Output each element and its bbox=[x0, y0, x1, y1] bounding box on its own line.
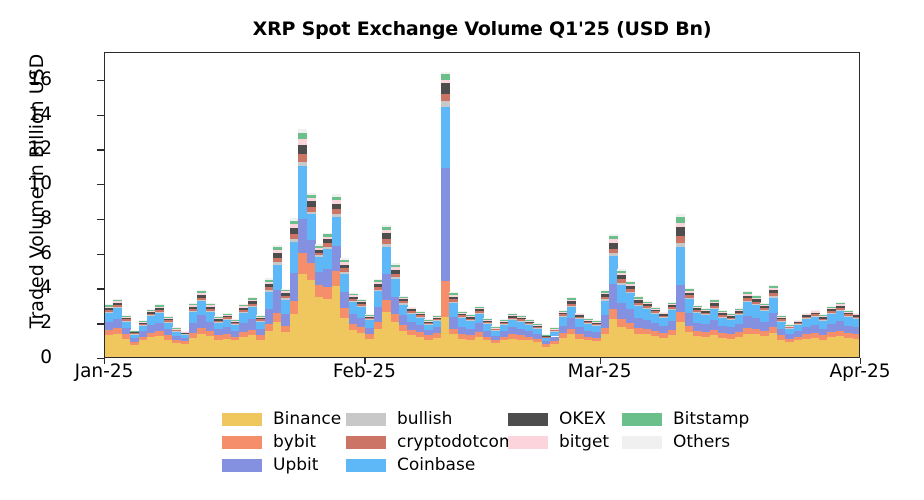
bar-segment-others bbox=[407, 307, 416, 308]
bar-segment-bitstamp bbox=[298, 133, 307, 139]
bar-segment-bybit bbox=[853, 334, 860, 338]
bar-segment-bitstamp bbox=[743, 292, 752, 294]
bar-segment-bitget bbox=[777, 317, 786, 318]
bar-segment-bullish bbox=[122, 321, 131, 322]
bar-segment-bitstamp bbox=[441, 74, 450, 79]
bar-segment-okex bbox=[617, 275, 626, 279]
bar-segment-okex bbox=[416, 314, 425, 316]
legend-label: Others bbox=[673, 434, 730, 451]
legend-swatch-icon bbox=[622, 436, 662, 449]
bar-segment-cryptodotcom bbox=[533, 327, 542, 328]
y-tick-label: 10 bbox=[12, 175, 52, 194]
bar-column bbox=[853, 313, 860, 357]
bar-segment-bitstamp bbox=[458, 312, 467, 313]
bar-segment-coinbase bbox=[441, 107, 450, 168]
legend-item-coinbase[interactable]: Coinbase bbox=[346, 454, 504, 477]
bar-segment-bitstamp bbox=[113, 300, 122, 302]
bar-segment-bitstamp bbox=[777, 316, 786, 317]
bar-segment-others bbox=[206, 303, 215, 304]
bar-segment-okex bbox=[533, 326, 542, 327]
bar-segment-bullish bbox=[710, 308, 719, 309]
bar-segment-okex bbox=[676, 227, 685, 235]
bar-segment-bitget bbox=[349, 295, 358, 296]
bar-segment-cryptodotcom bbox=[122, 319, 131, 320]
bar-segment-okex bbox=[609, 243, 618, 249]
bar-segment-others bbox=[533, 323, 542, 324]
bar-segment-cryptodotcom bbox=[777, 319, 786, 320]
bar-segment-others bbox=[223, 313, 232, 314]
bar-segment-coinbase bbox=[273, 265, 282, 290]
bar-segment-bullish bbox=[155, 312, 164, 313]
legend-item-upbit[interactable]: Upbit bbox=[222, 454, 342, 477]
bar-segment-bitget bbox=[197, 293, 206, 295]
bar-segment-okex bbox=[836, 306, 845, 308]
bar-segment-bitget bbox=[164, 318, 173, 319]
y-tick-mark bbox=[97, 115, 104, 116]
bar-segment-bitstamp bbox=[155, 305, 164, 306]
bar-segment-others bbox=[155, 304, 164, 305]
bar-segment-others bbox=[718, 310, 727, 311]
bar-segment-bitget bbox=[533, 325, 542, 326]
bar-segment-bitstamp bbox=[718, 311, 727, 312]
bar-segment-others bbox=[197, 290, 206, 291]
legend-swatch-icon bbox=[222, 436, 262, 449]
bar-segment-cryptodotcom bbox=[248, 304, 257, 306]
bar-segment-bitstamp bbox=[122, 316, 131, 317]
bar-segment-bitget bbox=[517, 317, 526, 318]
bar-segment-bullish bbox=[449, 302, 458, 303]
bar-segment-bitstamp bbox=[357, 299, 366, 300]
y-tick-label: 12 bbox=[12, 140, 52, 159]
bar-segment-okex bbox=[575, 315, 584, 317]
legend-swatch-icon bbox=[222, 459, 262, 472]
bar-segment-bitget bbox=[382, 230, 391, 233]
bar-segment-others bbox=[483, 318, 492, 319]
legend-row: bybitcryptodotcombitgetOthers bbox=[222, 431, 782, 454]
chart-title: XRP Spot Exchange Volume Q1'25 (USD Bn) bbox=[104, 18, 860, 40]
bar-segment-bitget bbox=[811, 311, 820, 312]
bar-segment-others bbox=[508, 313, 517, 314]
bar-segment-others bbox=[357, 299, 366, 300]
bar-segment-bitget bbox=[307, 198, 316, 201]
y-tick-mark bbox=[97, 184, 104, 185]
plot-area bbox=[104, 52, 860, 358]
bar-segment-bullish bbox=[307, 212, 316, 215]
bar-segment-okex bbox=[853, 315, 860, 317]
bar-segment-okex bbox=[206, 307, 215, 309]
bar-segment-bitstamp bbox=[617, 271, 626, 273]
legend-label: cryptodotcom bbox=[397, 434, 515, 451]
bar-segment-bitstamp bbox=[340, 260, 349, 262]
bar-segment-bitstamp bbox=[416, 312, 425, 313]
y-tick-mark bbox=[97, 219, 104, 220]
bar-segment-bitget bbox=[676, 223, 685, 228]
bar-segment-bitget bbox=[651, 309, 660, 310]
bar-segment-okex bbox=[164, 319, 173, 321]
bar-segment-bitstamp bbox=[651, 307, 660, 308]
chart-figure: XRP Spot Exchange Volume Q1'25 (USD Bn) … bbox=[0, 0, 924, 500]
bar-segment-others bbox=[391, 263, 400, 265]
bar-segment-bitget bbox=[223, 315, 232, 316]
legend-label: bullish bbox=[397, 411, 452, 428]
bar-segment-bullish bbox=[626, 292, 635, 294]
bar-segment-bitstamp bbox=[248, 298, 257, 300]
legend-label: Upbit bbox=[273, 457, 318, 474]
bar-segment-bitget bbox=[298, 139, 307, 145]
bar-segment-others bbox=[307, 193, 316, 195]
bar-segment-bitstamp bbox=[609, 236, 618, 240]
bar-segment-bitget bbox=[122, 317, 131, 318]
bar-segment-bullish bbox=[609, 253, 618, 256]
bar-segment-okex bbox=[475, 309, 484, 311]
bar-segment-bitget bbox=[769, 288, 778, 290]
bar-segment-cryptodotcom bbox=[609, 249, 618, 254]
bar-segment-okex bbox=[567, 301, 576, 303]
bar-segment-bitstamp bbox=[853, 313, 860, 314]
bar-segment-bitget bbox=[449, 295, 458, 297]
bar-segment-bitstamp bbox=[575, 313, 584, 314]
bar-segment-bullish bbox=[197, 300, 206, 301]
bar-segment-others bbox=[122, 315, 131, 316]
bar-segment-others bbox=[685, 288, 694, 289]
bar-segment-bitstamp bbox=[391, 265, 400, 267]
bar-segment-okex bbox=[273, 253, 282, 258]
bar-segment-bullish bbox=[113, 307, 122, 308]
bar-segment-bullish bbox=[853, 318, 860, 319]
legend-item-bybit[interactable]: bybit bbox=[222, 431, 342, 454]
bar-segment-bitget bbox=[575, 314, 584, 315]
bar-segment-bullish bbox=[685, 298, 694, 299]
bar-segment-cryptodotcom bbox=[710, 306, 719, 308]
bar-segment-cryptodotcom bbox=[449, 299, 458, 301]
bar-segment-bitget bbox=[626, 284, 635, 286]
bar-segment-okex bbox=[483, 321, 492, 322]
bar-segment-others bbox=[416, 311, 425, 312]
bar-segment-okex bbox=[340, 265, 349, 269]
bar-segment-bullish bbox=[777, 321, 786, 322]
bar-segment-bitstamp bbox=[517, 316, 526, 317]
x-tick-label: Feb-25 bbox=[328, 362, 400, 381]
bar-segment-bitstamp bbox=[332, 197, 341, 201]
bar-segment-others bbox=[752, 295, 761, 296]
bar-segment-coinbase bbox=[307, 214, 316, 239]
bar-segment-others bbox=[164, 316, 173, 317]
bar-segment-bullish bbox=[248, 306, 257, 307]
bar-segment-bitstamp bbox=[710, 300, 719, 302]
bar-segment-bitget bbox=[391, 267, 400, 269]
bar-segment-okex bbox=[155, 308, 164, 310]
bar-segment-bullish bbox=[769, 296, 778, 298]
bar-segment-bullish bbox=[567, 306, 576, 307]
bar-segment-bitstamp bbox=[475, 307, 484, 308]
bar-segment-coinbase bbox=[122, 321, 131, 328]
y-tick-mark bbox=[97, 254, 104, 255]
bar-segment-bitstamp bbox=[349, 294, 358, 296]
bar-segment-bullish bbox=[206, 311, 215, 312]
y-tick-mark bbox=[97, 323, 104, 324]
bar-segment-cryptodotcom bbox=[298, 154, 307, 162]
y-tick-label: 0 bbox=[12, 349, 52, 368]
bar-segment-cryptodotcom bbox=[567, 304, 576, 306]
bar-segment-upbit bbox=[441, 168, 450, 281]
bar-segment-bitstamp bbox=[533, 324, 542, 325]
bar-segment-cryptodotcom bbox=[475, 311, 484, 313]
legend-swatch-icon bbox=[508, 436, 548, 449]
bar-segment-others bbox=[584, 318, 593, 319]
bar-segment-bitstamp bbox=[382, 227, 391, 230]
legend-label: Bitstamp bbox=[673, 411, 749, 428]
bar-segment-bullish bbox=[273, 262, 282, 264]
bar-segment-coinbase bbox=[853, 319, 860, 327]
bar-segment-bitget bbox=[752, 298, 761, 299]
y-tick-label: 4 bbox=[12, 279, 52, 298]
legend-label: Coinbase bbox=[397, 457, 475, 474]
legend-swatch-icon bbox=[346, 436, 386, 449]
bar-segment-cryptodotcom bbox=[332, 209, 341, 214]
bar-segment-others bbox=[172, 327, 181, 328]
bar-segment-bitstamp bbox=[273, 247, 282, 250]
bar-segment-cryptodotcom bbox=[853, 317, 860, 318]
x-tick-label: Apr-25 bbox=[824, 362, 896, 381]
bar-segment-bullish bbox=[340, 272, 349, 274]
legend-item-bitget[interactable]: bitget bbox=[508, 431, 618, 454]
legend-swatch-icon bbox=[346, 459, 386, 472]
bar-segment-okex bbox=[391, 270, 400, 274]
bar-segment-bitget bbox=[685, 291, 694, 293]
legend-row: UpbitCoinbase bbox=[222, 454, 782, 477]
bar-segment-bitget bbox=[340, 262, 349, 264]
bar-segment-okex bbox=[769, 290, 778, 293]
bar-segment-cryptodotcom bbox=[382, 239, 391, 244]
bar-segment-bitstamp bbox=[449, 293, 458, 295]
bar-segment-okex bbox=[449, 297, 458, 300]
bar-segment-bitget bbox=[525, 321, 534, 322]
bar-segment-others bbox=[676, 214, 685, 217]
stacked-bars-layer bbox=[105, 53, 859, 357]
bar-segment-okex bbox=[752, 299, 761, 302]
bar-segment-cryptodotcom bbox=[197, 298, 206, 300]
bar-segment-okex bbox=[626, 286, 635, 289]
bar-segment-okex bbox=[357, 302, 366, 304]
bar-segment-others bbox=[248, 297, 257, 298]
bar-segment-bitget bbox=[113, 301, 122, 302]
bar-segment-bullish bbox=[441, 101, 450, 106]
bar-segment-others bbox=[382, 225, 391, 227]
legend-swatch-icon bbox=[222, 413, 262, 426]
bar-segment-bitstamp bbox=[752, 296, 761, 298]
bar-segment-cryptodotcom bbox=[626, 289, 635, 292]
bar-segment-bitget bbox=[853, 314, 860, 315]
legend-swatch-icon bbox=[622, 413, 662, 426]
bar-segment-bitstamp bbox=[307, 195, 316, 198]
chart-legend: BinancebullishOKEXBitstampbybitcryptodot… bbox=[222, 408, 782, 477]
bar-segment-bitstamp bbox=[626, 282, 635, 284]
bar-segment-bitstamp bbox=[172, 328, 181, 329]
bar-segment-binance bbox=[853, 339, 860, 357]
bar-segment-cryptodotcom bbox=[164, 320, 173, 321]
bar-segment-others bbox=[298, 129, 307, 133]
bar-segment-cryptodotcom bbox=[769, 293, 778, 296]
legend-label: OKEX bbox=[559, 411, 606, 428]
bar-segment-coinbase bbox=[533, 328, 542, 334]
legend-swatch-icon bbox=[508, 413, 548, 426]
bar-segment-okex bbox=[710, 303, 719, 305]
bar-segment-bitget bbox=[710, 302, 719, 303]
x-tick-label: Jan-25 bbox=[68, 362, 140, 381]
bar-segment-bullish bbox=[416, 317, 425, 318]
bar-segment-others bbox=[349, 293, 358, 294]
bar-segment-upbit bbox=[853, 327, 860, 334]
bar-segment-others bbox=[853, 313, 860, 314]
bar-segment-bitstamp bbox=[223, 314, 232, 315]
y-tick-label: 2 bbox=[12, 314, 52, 333]
bar-segment-bitstamp bbox=[811, 310, 820, 311]
bar-segment-bullish bbox=[298, 162, 307, 166]
bar-segment-okex bbox=[382, 233, 391, 239]
legend-row: BinancebullishOKEXBitstamp bbox=[222, 408, 782, 431]
bar-segment-bitget bbox=[643, 303, 652, 304]
bar-segment-bitget bbox=[617, 273, 626, 275]
bar-segment-bitstamp bbox=[483, 319, 492, 320]
bar-segment-bitget bbox=[248, 300, 257, 301]
bar-segment-bitget bbox=[155, 307, 164, 308]
bar-segment-coinbase bbox=[391, 279, 400, 297]
bar-segment-cryptodotcom bbox=[676, 236, 685, 243]
bar-segment-cryptodotcom bbox=[391, 274, 400, 277]
bar-segment-others bbox=[836, 302, 845, 303]
bar-segment-coinbase bbox=[769, 298, 778, 313]
legend-item-cryptodotcom[interactable]: cryptodotcom bbox=[346, 431, 504, 454]
bar-segment-others bbox=[458, 311, 467, 312]
bar-segment-others bbox=[525, 319, 534, 320]
y-tick-label: 8 bbox=[12, 210, 52, 229]
legend-label: bybit bbox=[273, 434, 316, 451]
bar-segment-bitget bbox=[475, 308, 484, 309]
bar-segment-okex bbox=[441, 83, 450, 94]
bar-segment-cryptodotcom bbox=[357, 304, 366, 306]
bar-segment-coinbase bbox=[340, 274, 349, 292]
bar-segment-bullish bbox=[391, 277, 400, 279]
legend-item-binance[interactable]: Binance bbox=[222, 408, 342, 431]
bar-segment-others bbox=[643, 301, 652, 302]
legend-item-okex[interactable]: OKEX bbox=[508, 408, 618, 431]
bar-segment-bitget bbox=[399, 298, 408, 299]
bar-segment-bullish bbox=[483, 323, 492, 324]
bar-segment-others bbox=[273, 245, 282, 247]
bar-segment-bullish bbox=[357, 306, 366, 307]
bar-segment-bitstamp bbox=[197, 291, 206, 293]
y-tick-label: 16 bbox=[12, 71, 52, 90]
bar-segment-bitstamp bbox=[525, 320, 534, 321]
bar-segment-others bbox=[693, 305, 702, 306]
bar-segment-bitget bbox=[357, 301, 366, 302]
bar-segment-bitget bbox=[416, 313, 425, 314]
bar-segment-bitget bbox=[273, 250, 282, 253]
legend-swatch-icon bbox=[346, 413, 386, 426]
bar-segment-bitstamp bbox=[567, 298, 576, 300]
bar-segment-coinbase bbox=[332, 217, 341, 246]
bar-segment-bullish bbox=[332, 214, 341, 217]
bar-segment-bitstamp bbox=[836, 303, 845, 304]
bar-segment-others bbox=[769, 285, 778, 286]
legend-label: Binance bbox=[273, 411, 341, 428]
bar-segment-others bbox=[517, 315, 526, 316]
bar-segment-others bbox=[475, 306, 484, 307]
bar-segment-bitstamp bbox=[206, 304, 215, 305]
bar-segment-bitstamp bbox=[399, 297, 408, 298]
bar-segment-others bbox=[332, 194, 341, 196]
bar-segment-others bbox=[617, 269, 626, 271]
bar-segment-cryptodotcom bbox=[206, 309, 215, 311]
bar-segment-bitget bbox=[407, 308, 416, 309]
bar-segment-others bbox=[575, 313, 584, 314]
bar-segment-okex bbox=[685, 293, 694, 296]
bar-segment-others bbox=[340, 258, 349, 260]
bar-segment-bullish bbox=[399, 303, 408, 304]
bar-segment-okex bbox=[248, 301, 257, 303]
bar-segment-cryptodotcom bbox=[399, 301, 408, 303]
bar-segment-bitget bbox=[609, 239, 618, 242]
legend-label: bitget bbox=[559, 434, 609, 451]
y-tick-label: 14 bbox=[12, 106, 52, 125]
bar-segment-okex bbox=[298, 145, 307, 155]
bar-segment-bitget bbox=[206, 305, 215, 306]
bar-segment-okex bbox=[223, 316, 232, 318]
bar-segment-cryptodotcom bbox=[113, 305, 122, 307]
y-tick-mark bbox=[97, 149, 104, 150]
bar-segment-bitget bbox=[483, 320, 492, 321]
bar-segment-cryptodotcom bbox=[685, 295, 694, 297]
bar-segment-bullish bbox=[382, 244, 391, 247]
bar-segment-bitget bbox=[441, 80, 450, 83]
bar-segment-others bbox=[567, 297, 576, 298]
bar-segment-okex bbox=[332, 204, 341, 210]
y-tick-mark bbox=[97, 80, 104, 81]
bar-segment-cryptodotcom bbox=[273, 258, 282, 262]
bar-segment-others bbox=[399, 296, 408, 297]
bar-segment-cryptodotcom bbox=[340, 268, 349, 271]
bar-segment-bitstamp bbox=[634, 297, 643, 299]
bar-segment-others bbox=[441, 72, 450, 75]
bar-segment-cryptodotcom bbox=[155, 310, 164, 312]
bar-segment-others bbox=[811, 310, 820, 311]
bar-segment-bullish bbox=[676, 243, 685, 247]
bar-segment-cryptodotcom bbox=[416, 315, 425, 316]
legend-item-bullish[interactable]: bullish bbox=[346, 408, 504, 431]
bar-segment-others bbox=[113, 299, 122, 300]
bar-segment-bitget bbox=[836, 304, 845, 305]
bar-segment-bitstamp bbox=[769, 286, 778, 288]
bar-segment-okex bbox=[307, 201, 316, 207]
bar-segment-others bbox=[626, 281, 635, 282]
bar-segment-bitget bbox=[567, 300, 576, 301]
bar-segment-okex bbox=[197, 295, 206, 298]
bar-segment-others bbox=[743, 291, 752, 292]
y-tick-label: 6 bbox=[12, 245, 52, 264]
legend-item-others[interactable]: Others bbox=[622, 431, 772, 454]
legend-item-bitstamp[interactable]: Bitstamp bbox=[622, 408, 772, 431]
y-tick-mark bbox=[97, 288, 104, 289]
bar-segment-others bbox=[710, 299, 719, 300]
bar-segment-others bbox=[634, 296, 643, 297]
bar-segment-okex bbox=[122, 318, 131, 320]
bar-segment-bullish bbox=[475, 313, 484, 314]
bar-segment-others bbox=[609, 234, 618, 236]
y-tick-mark bbox=[97, 358, 104, 359]
bar-segment-bitstamp bbox=[685, 289, 694, 291]
bar-segment-others bbox=[449, 292, 458, 293]
bar-segment-bitget bbox=[332, 200, 341, 203]
